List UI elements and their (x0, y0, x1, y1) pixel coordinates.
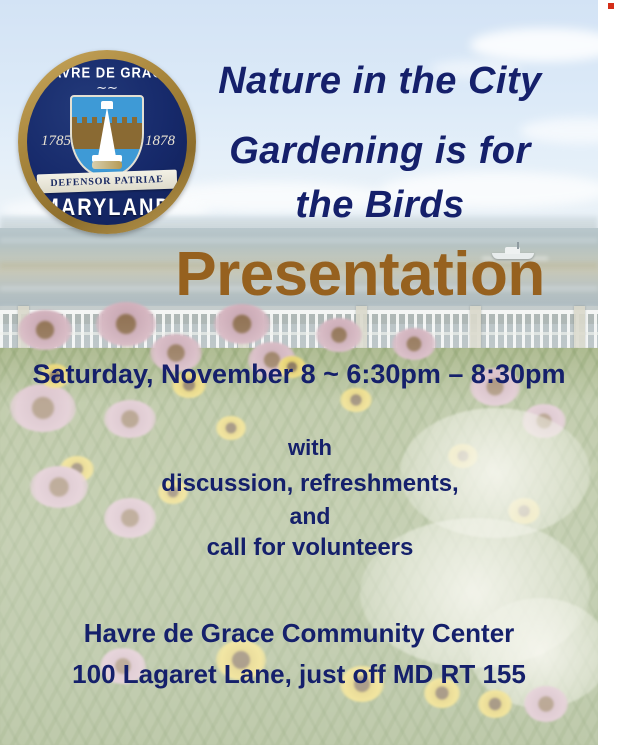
page-title-line-3: the Birds (160, 186, 600, 224)
venue-name: Havre de Grace Community Center (0, 620, 598, 646)
red-marker-icon (608, 3, 614, 9)
lighthouse-lantern (101, 101, 113, 109)
event-details: discussion, refreshments, (30, 472, 590, 496)
right-margin (598, 0, 617, 745)
event-datetime: Saturday, November 8 ~ 6:30pm – 8:30pm (0, 361, 598, 388)
and-label: and (30, 505, 590, 528)
volunteers-call: call for volunteers (30, 536, 590, 560)
page-title-line-2: Gardening is for (160, 132, 600, 170)
venue-address: 100 Lagaret Lane, just off MD RT 155 (0, 661, 598, 687)
cannon-icon (92, 161, 122, 169)
seal-motto-text: DEFENSOR PATRIAE (50, 174, 164, 189)
seal-year-left: 1785 (41, 133, 71, 150)
presentation-label: Presentation (120, 244, 600, 306)
page-title-line-1: Nature in the City (160, 62, 600, 100)
with-label: with (30, 437, 590, 459)
motto-banner: DEFENSOR PATRIAE (37, 170, 178, 194)
bird-icon: ∼∼ (96, 81, 118, 94)
flyer-page: HAVRE DE GRACE ∼∼ 1785 1878 DEFENSOR PAT… (0, 0, 617, 745)
lighthouse-icon (98, 107, 116, 157)
